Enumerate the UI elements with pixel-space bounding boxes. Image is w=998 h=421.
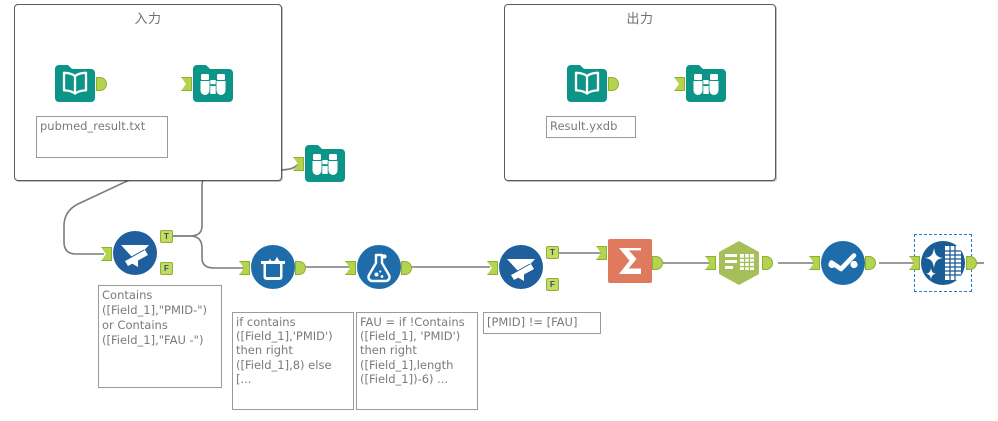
- formula-tool[interactable]: [356, 244, 402, 290]
- binoculars-icon: [302, 140, 348, 186]
- input-container-title: 入力: [15, 8, 281, 27]
- browse-tool-3[interactable]: [302, 140, 348, 186]
- render-output-anchor[interactable]: [966, 256, 977, 270]
- select-tool[interactable]: [716, 240, 762, 286]
- select-output-anchor[interactable]: [762, 256, 773, 270]
- filter-tool-2[interactable]: T F: [498, 244, 544, 290]
- filter-funnel-icon: [498, 244, 544, 290]
- output-tool-container[interactable]: 出力: [504, 4, 776, 181]
- output-data-tool[interactable]: [564, 60, 610, 106]
- summarize-output-anchor[interactable]: [652, 256, 663, 270]
- data-cleansing-annotation: if contains ([Field_1],'PMID') then righ…: [232, 312, 354, 410]
- filter-tool-1[interactable]: T F: [112, 230, 158, 276]
- dot-check-dot-icon: [820, 240, 866, 286]
- filter-2-true-anchor[interactable]: T: [546, 246, 559, 259]
- browse-tool-1[interactable]: [190, 60, 236, 106]
- formula-output-anchor[interactable]: [401, 261, 412, 275]
- render-tool[interactable]: [920, 240, 966, 286]
- workflow-canvas[interactable]: 入力 出力 pubmed_result.txt: [0, 0, 998, 421]
- data-cleansing-output-anchor[interactable]: [295, 261, 306, 275]
- table-columns-icon: [716, 240, 762, 286]
- binoculars-icon: [683, 60, 729, 106]
- open-book-icon: [52, 60, 98, 106]
- filter-1-input-anchor[interactable]: [101, 247, 112, 261]
- flask-icon: [356, 244, 402, 290]
- filter-1-annotation: Contains ([Field_1],"PMID-") or Contains…: [98, 285, 222, 388]
- data-cleansing-input-anchor[interactable]: [239, 261, 250, 275]
- output-file-annotation: Result.yxdb: [546, 116, 636, 138]
- output-container-title: 出力: [505, 8, 775, 27]
- formula-annotation: FAU = if !Contains ([Field_1], 'PMID') t…: [356, 312, 478, 410]
- binoculars-icon: [190, 60, 236, 106]
- filter-2-false-anchor[interactable]: F: [546, 278, 559, 291]
- select-input-anchor[interactable]: [705, 256, 716, 270]
- unique-output-anchor[interactable]: [865, 256, 876, 270]
- summarize-tool[interactable]: [607, 238, 653, 284]
- data-cleansing-tool[interactable]: [250, 244, 296, 290]
- filter-1-false-anchor[interactable]: F: [160, 262, 173, 275]
- input-data-tool[interactable]: [52, 60, 98, 106]
- unique-input-anchor[interactable]: [809, 256, 820, 270]
- unique-tool[interactable]: [820, 240, 866, 286]
- bucket-droplets-icon: [250, 244, 296, 290]
- input-file-annotation: pubmed_result.txt: [36, 116, 168, 158]
- summarize-input-anchor[interactable]: [596, 246, 607, 260]
- filter-2-input-anchor[interactable]: [487, 261, 498, 275]
- formula-input-anchor[interactable]: [345, 261, 356, 275]
- browse-tool-2[interactable]: [683, 60, 729, 106]
- render-input-anchor[interactable]: [909, 256, 920, 270]
- open-book-icon: [564, 60, 610, 106]
- filter-1-true-anchor[interactable]: T: [160, 230, 173, 243]
- sigma-icon: [607, 238, 653, 284]
- filter-2-annotation: [PMID] != [FAU]: [483, 312, 601, 334]
- filter-funnel-icon: [112, 230, 158, 276]
- sparkle-report-icon: [920, 240, 966, 286]
